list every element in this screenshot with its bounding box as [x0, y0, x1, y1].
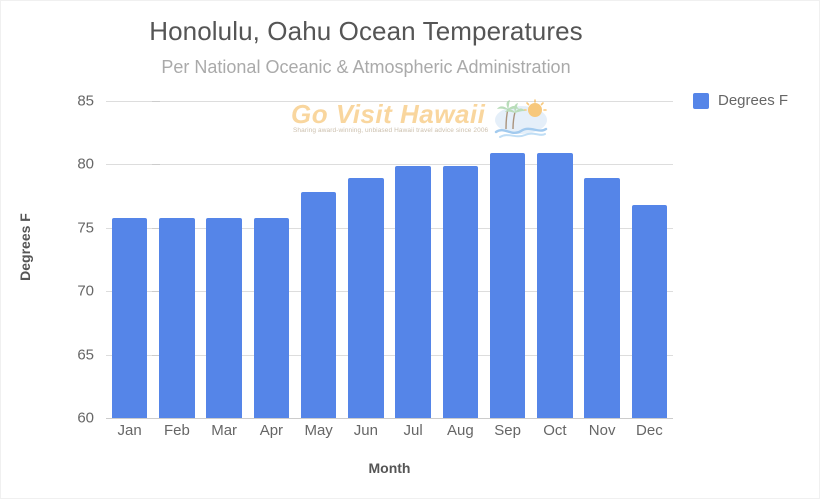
bar-sep[interactable] [490, 153, 526, 418]
bars-layer [106, 101, 673, 418]
chart-legend: Degrees F [693, 92, 788, 109]
x-tick-label-may: May [304, 422, 332, 439]
bar-aug[interactable] [443, 166, 479, 418]
bar-jan[interactable] [112, 218, 148, 418]
bar-mar[interactable] [206, 218, 242, 418]
y-tick-label-85: 85 [77, 93, 94, 110]
chart-title: Honolulu, Oahu Ocean Temperatures [1, 16, 731, 47]
x-axis-tick-labels: JanFebMarAprMayJunJulAugSepOctNovDec [106, 422, 673, 446]
y-tick-label-75: 75 [77, 219, 94, 236]
bar-dec[interactable] [632, 205, 668, 418]
y-tick-mark-60 [152, 418, 160, 419]
chart-subtitle: Per National Oceanic & Atmospheric Admin… [1, 57, 731, 78]
bar-nov[interactable] [584, 178, 620, 418]
x-tick-label-dec: Dec [636, 422, 663, 439]
x-tick-label-nov: Nov [589, 422, 616, 439]
y-tick-label-80: 80 [77, 156, 94, 173]
y-tick-label-60: 60 [77, 410, 94, 427]
x-tick-label-feb: Feb [164, 422, 190, 439]
y-axis-title: Degrees F [17, 187, 33, 307]
y-tick-label-65: 65 [77, 346, 94, 363]
bar-jun[interactable] [348, 178, 384, 418]
bar-jul[interactable] [395, 166, 431, 418]
x-axis-title: Month [106, 460, 673, 476]
x-tick-label-jan: Jan [118, 422, 142, 439]
x-tick-label-jul: Jul [404, 422, 423, 439]
legend-swatch-degrees-f [693, 93, 709, 109]
y-tick-label-70: 70 [77, 283, 94, 300]
bar-apr[interactable] [254, 218, 290, 418]
x-tick-label-jun: Jun [354, 422, 378, 439]
chart-container: Honolulu, Oahu Ocean Temperatures Per Na… [0, 0, 820, 499]
x-tick-label-sep: Sep [494, 422, 521, 439]
x-tick-label-apr: Apr [260, 422, 283, 439]
y-axis-tick-labels: 606570758085 [56, 101, 94, 418]
bar-oct[interactable] [537, 153, 573, 418]
bar-feb[interactable] [159, 218, 195, 418]
gridline-60 [106, 418, 673, 419]
bar-may[interactable] [301, 192, 337, 418]
x-tick-label-oct: Oct [543, 422, 566, 439]
legend-label-degrees-f: Degrees F [718, 92, 788, 109]
x-tick-label-mar: Mar [211, 422, 237, 439]
x-tick-label-aug: Aug [447, 422, 474, 439]
